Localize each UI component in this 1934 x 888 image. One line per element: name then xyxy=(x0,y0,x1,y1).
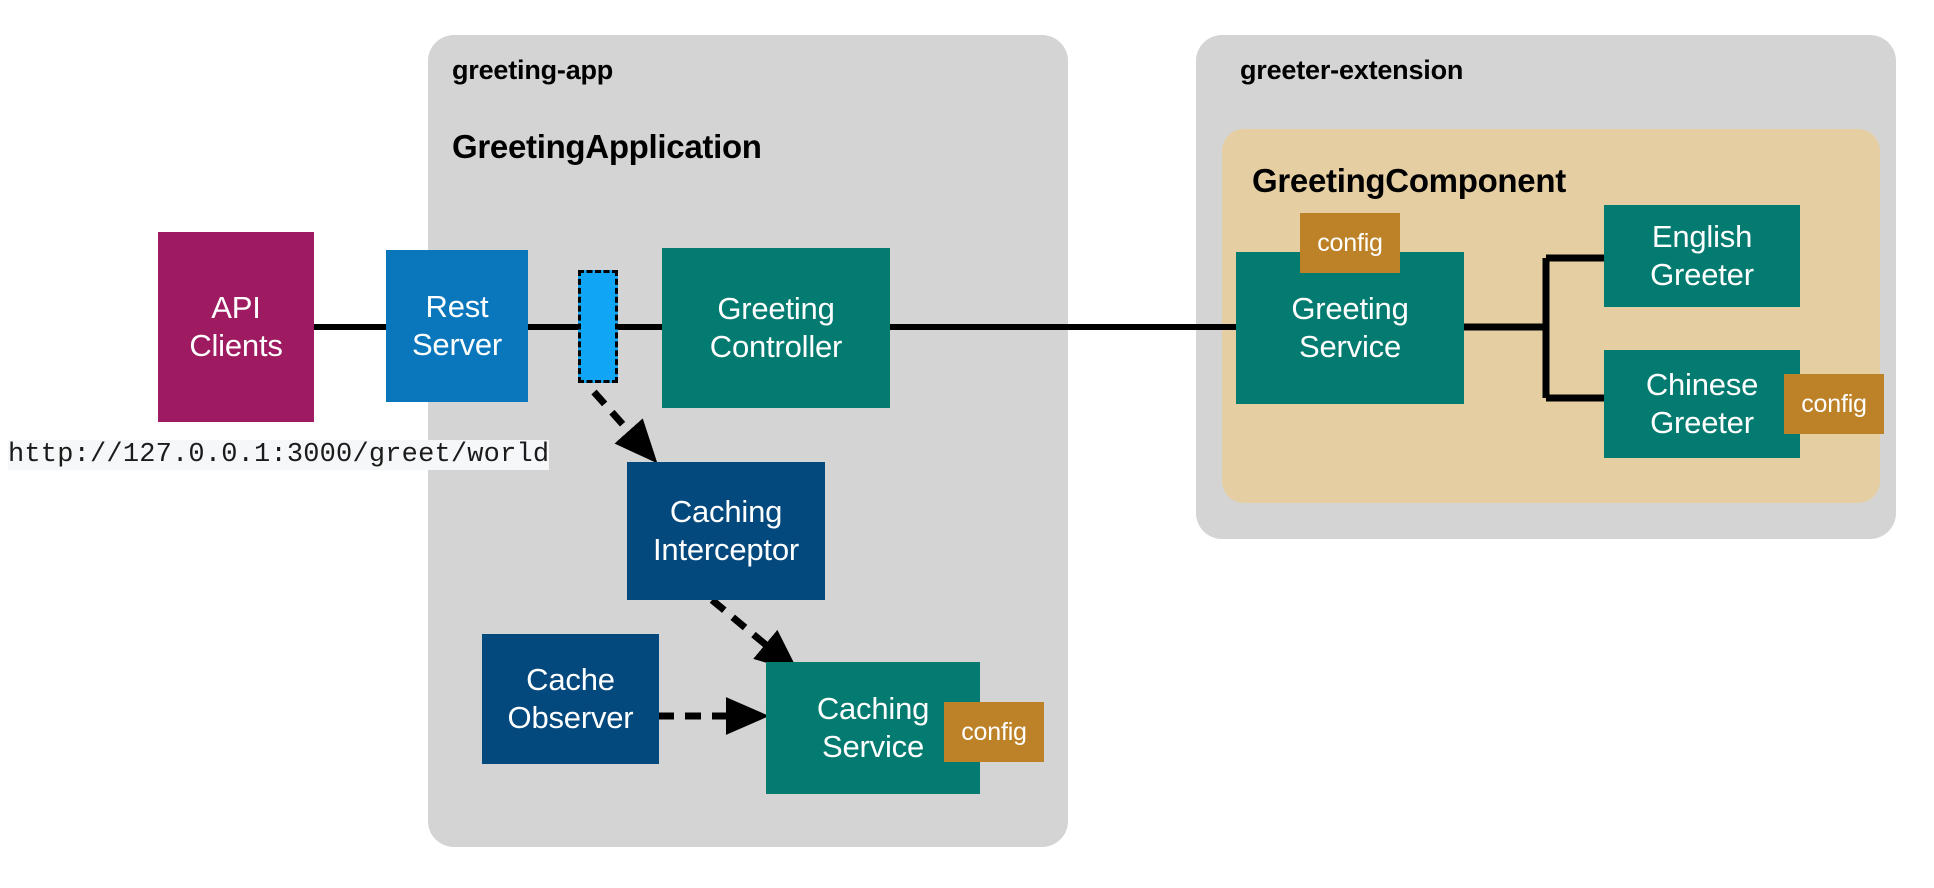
badge-greeting-service-config[interactable]: config xyxy=(1300,213,1400,273)
inner-title-greeting-application: GreetingApplication xyxy=(452,128,762,166)
url-label: http://127.0.0.1:3000/greet/world xyxy=(8,440,549,470)
node-caching-interceptor[interactable]: Caching Interceptor xyxy=(627,462,825,600)
badge-chinese-greeter-config[interactable]: config xyxy=(1784,374,1884,434)
badge-caching-service-config[interactable]: config xyxy=(944,702,1044,762)
node-greeting-controller[interactable]: Greeting Controller xyxy=(662,248,890,408)
node-api-clients[interactable]: API Clients xyxy=(158,232,314,422)
node-greeting-service[interactable]: Greeting Service xyxy=(1236,252,1464,404)
node-rest-server[interactable]: Rest Server xyxy=(386,250,528,402)
node-chinese-greeter[interactable]: Chinese Greeter xyxy=(1604,350,1800,458)
node-cache-observer[interactable]: Cache Observer xyxy=(482,634,659,764)
node-sequence[interactable] xyxy=(578,270,618,383)
node-english-greeter[interactable]: English Greeter xyxy=(1604,205,1800,307)
inner-title-greeting-component: GreetingComponent xyxy=(1252,162,1566,200)
diagram-canvas: greeting-app GreetingApplication greeter… xyxy=(0,0,1934,888)
package-title-greeter-extension: greeter-extension xyxy=(1240,55,1463,86)
package-title-greeting-app: greeting-app xyxy=(452,55,613,86)
